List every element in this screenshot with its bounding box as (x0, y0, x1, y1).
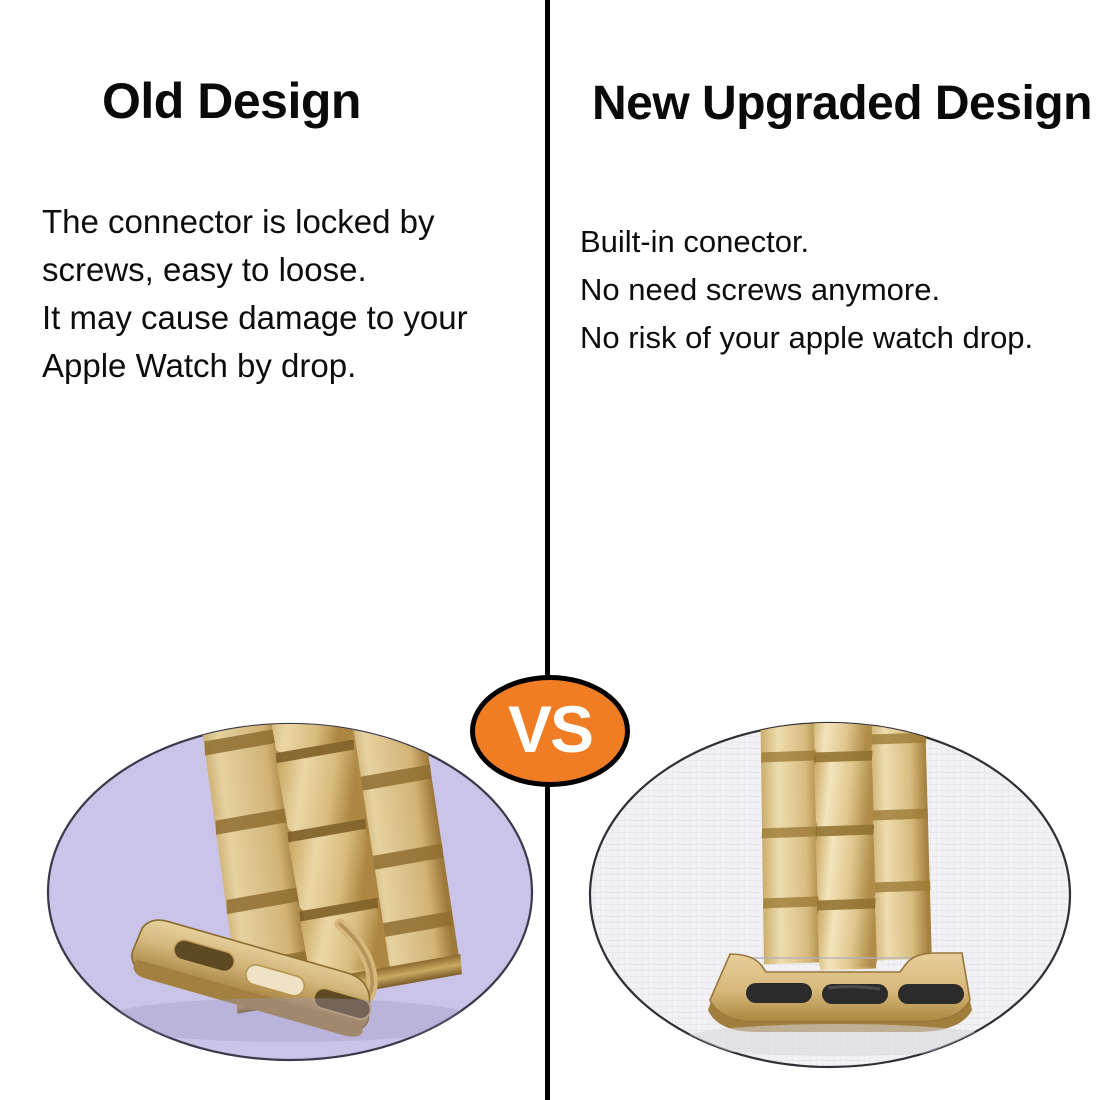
old-design-heading: Old Design (102, 72, 361, 130)
new-design-photo (570, 700, 1090, 1090)
new-design-line-1: Built-in conector. (580, 218, 1080, 266)
old-design-description: The connector is locked by screws, easy … (42, 198, 512, 390)
new-design-description: Built-in conector. No need screws anymor… (580, 218, 1080, 362)
new-design-line-2: No need screws anymore. (580, 266, 1080, 314)
new-design-heading: New Upgraded Design (592, 76, 1092, 131)
vertical-divider (545, 0, 550, 1100)
new-design-line-3: No risk of your apple watch drop. (580, 314, 1080, 362)
old-design-line-2: It may cause damage to your Apple Watch … (42, 294, 512, 390)
vs-badge-label: VS (470, 675, 630, 787)
vs-badge: VS (470, 675, 630, 787)
new-design-panel: New Upgraded Design Built-in conector. N… (550, 0, 1100, 1100)
comparison-infographic: Old Design The connector is locked by sc… (0, 0, 1100, 1100)
old-design-line-1: The connector is locked by screws, easy … (42, 198, 512, 294)
old-design-panel: Old Design The connector is locked by sc… (0, 0, 545, 1100)
